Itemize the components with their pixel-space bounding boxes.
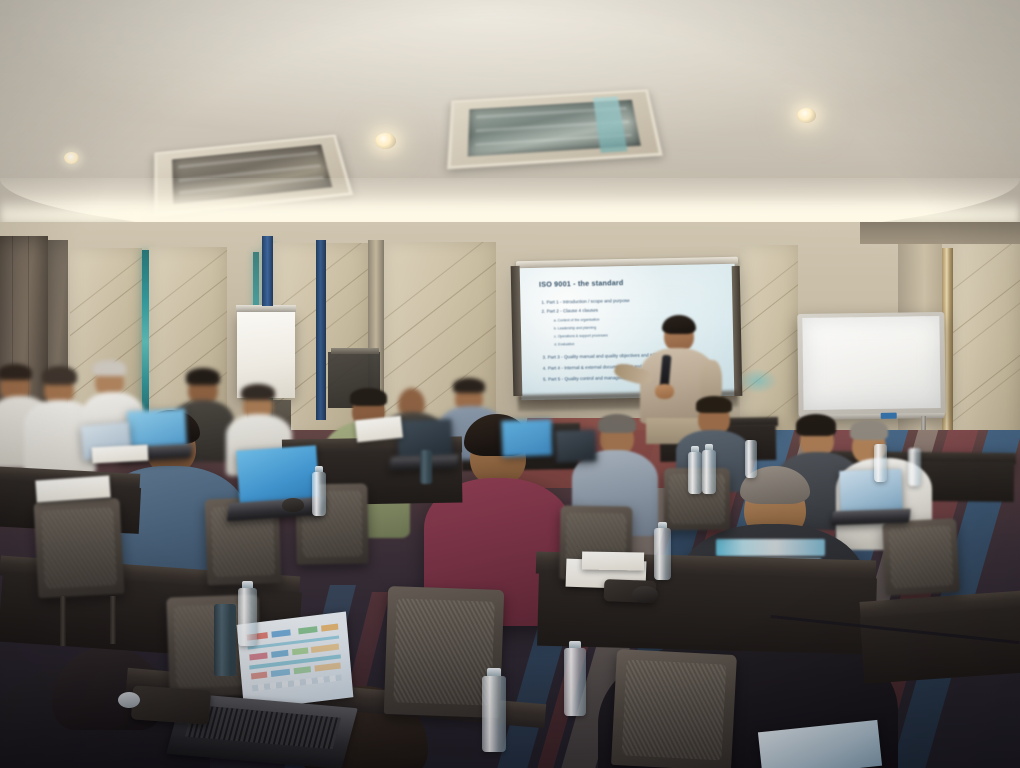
polo-logo-print [716,539,825,556]
smartphone[interactable] [131,685,211,724]
chair[interactable] [882,518,960,596]
computer-mouse[interactable] [282,498,304,512]
chair[interactable] [34,498,125,598]
wall-accent-strip [142,250,149,434]
water-bottle[interactable] [745,440,757,478]
chair-leg [60,596,66,646]
notepad[interactable] [92,445,149,464]
structural-pillar [316,240,326,420]
attendee-hair [186,368,220,385]
laptop-screen[interactable] [501,419,552,457]
chair-leg [110,596,116,644]
attendee-hair [453,378,485,393]
slide-sub-bullet: d. Evaluation [554,342,574,346]
computer-mouse[interactable] [632,586,658,603]
notepad[interactable] [582,551,644,570]
water-bottle[interactable] [688,452,702,494]
water-bottle[interactable] [654,528,671,580]
laptop-screen[interactable] [839,469,902,513]
attendee-hair-grey [93,360,126,376]
laptop-screen[interactable] [555,429,596,462]
wall-accent-glow [738,368,778,394]
water-bottle[interactable] [564,648,586,716]
laptop-diagram-content [244,619,346,703]
whiteboard-eraser[interactable] [881,413,897,419]
water-bottle[interactable] [238,588,257,646]
water-bottle[interactable] [908,448,921,486]
chair[interactable] [611,649,737,768]
water-bottle[interactable] [874,444,887,482]
water-bottle[interactable] [702,450,716,494]
attendee-hair [350,388,387,406]
attendee-hair [696,396,732,413]
laptop-keyboard[interactable] [831,509,911,526]
earbuds-case[interactable] [118,692,140,708]
water-bottle[interactable] [312,472,326,516]
water-bottle-steel[interactable] [214,604,236,676]
attendee-hair [0,364,32,380]
table-skirt [860,606,1020,684]
attendee-hair-grey [850,420,888,440]
presenter-hand [655,384,674,399]
attendee-hair [42,366,77,385]
wall-upper-beam [860,222,1020,244]
structural-pillar [262,236,273,306]
slide-title: ISO 9001 - the standard [539,278,624,289]
flip-chart-clamp [236,305,296,312]
recessed-downlight [797,108,816,123]
whiteboard[interactable] [797,312,945,417]
water-bottle[interactable] [482,676,506,752]
ceiling-cassette-air-conditioner [447,89,662,169]
presenter-hair [662,315,696,334]
water-bottle-steel[interactable] [420,450,432,484]
whiteboard-surface[interactable] [802,316,941,411]
recessed-downlight [64,152,79,164]
wall-panel [740,245,798,445]
laptop-screen[interactable] [127,409,187,450]
recessed-downlight [375,133,396,149]
attendee-hair [796,414,836,436]
av-equipment-shelf [331,348,379,354]
attendee-hair-grey [598,414,636,433]
attendee-hair [241,384,275,400]
training-room-photo: ISO 9001 - the standard 1. Part 1 - Intr… [0,0,1020,768]
